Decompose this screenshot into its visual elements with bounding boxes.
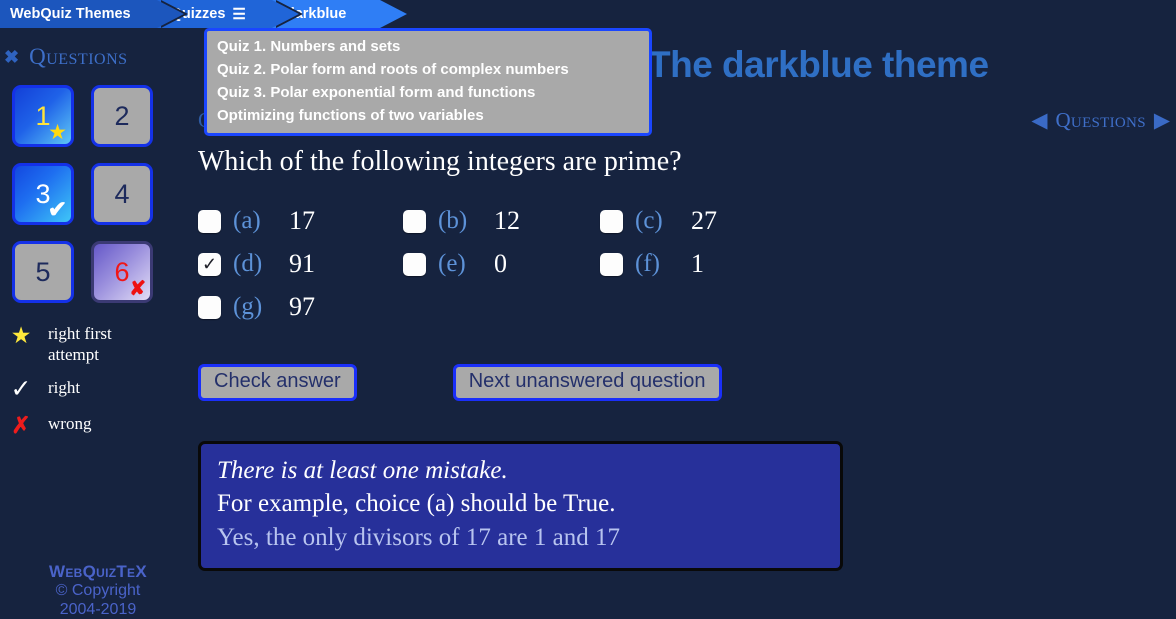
star-icon: ★: [48, 122, 67, 143]
checkbox-e[interactable]: [403, 253, 426, 276]
choice-value: 27: [691, 206, 717, 236]
breadcrumb-arrow-icon: [272, 0, 299, 28]
question-button-2[interactable]: 2: [91, 85, 153, 147]
previous-question-icon[interactable]: ◀: [1031, 110, 1047, 131]
cross-icon: ✗: [8, 413, 34, 437]
choice-value: 17: [289, 206, 315, 236]
checkbox-d[interactable]: ✓: [198, 253, 221, 276]
legend-label: right: [48, 377, 80, 398]
feedback-line-2: For example, choice (a) should be True.: [217, 487, 824, 521]
choice-tag: (d): [233, 250, 277, 278]
question-button-4[interactable]: 4: [91, 163, 153, 225]
questions-nav: ◀ Questions ▶: [1031, 108, 1170, 133]
check-icon: ✔: [48, 198, 67, 221]
checkbox-a[interactable]: [198, 210, 221, 233]
main-content: Question 6 Which of the following intege…: [198, 108, 1158, 571]
breadcrumb-item-webquiz-themes[interactable]: WebQuiz Themes: [0, 0, 157, 28]
footer-years: 2004-2019: [0, 600, 196, 619]
breadcrumb-arrow-icon: [380, 0, 407, 28]
next-question-icon[interactable]: ▶: [1154, 110, 1170, 131]
choice-g[interactable]: (g) 97: [198, 292, 403, 322]
footer-copyright: © Copyright: [0, 581, 196, 600]
check-icon: ✓: [8, 377, 34, 401]
close-x-icon[interactable]: ✖: [4, 48, 19, 66]
breadcrumb: WebQuiz Themes Quizzes ☰ darkblue: [0, 0, 380, 28]
legend-item-right-first-attempt: ★ right first attempt: [8, 323, 196, 365]
checkbox-g[interactable]: [198, 296, 221, 319]
question-button-number: 5: [35, 257, 50, 288]
question-button-1[interactable]: 1 ★: [12, 85, 74, 147]
question-button-number: 2: [114, 101, 129, 132]
feedback-box: There is at least one mistake. For examp…: [198, 441, 843, 571]
feedback-line-3: Yes, the only divisors of 17 are 1 and 1…: [217, 521, 824, 555]
choice-tag: (a): [233, 207, 277, 235]
legend-label: right first attempt: [48, 323, 138, 365]
checkbox-c[interactable]: [600, 210, 623, 233]
legend-item-right: ✓ right: [8, 377, 196, 401]
choice-tag: (g): [233, 293, 277, 321]
question-text: Which of the following integers are prim…: [198, 146, 1158, 178]
question-button-6[interactable]: 6 ✘: [91, 241, 153, 303]
menu-item-optimizing-functions[interactable]: Optimizing functions of two variables: [207, 104, 649, 127]
choice-tag: (e): [438, 250, 482, 278]
question-button-grid: 1 ★ 2 3 ✔ 4 5 6 ✘: [12, 85, 196, 303]
legend-item-wrong: ✗ wrong: [8, 413, 196, 437]
choice-tag: (c): [635, 207, 679, 235]
sidebar: ✖ Questions 1 ★ 2 3 ✔ 4 5 6 ✘: [0, 40, 196, 449]
checkbox-f[interactable]: [600, 253, 623, 276]
choice-tag: (b): [438, 207, 482, 235]
feedback-line-1: There is at least one mistake.: [217, 455, 824, 487]
next-unanswered-question-button[interactable]: Next unanswered question: [453, 364, 722, 401]
choice-value: 1: [691, 249, 704, 279]
choice-b[interactable]: (b) 12: [403, 206, 600, 236]
sidebar-title: Questions: [29, 44, 127, 70]
sidebar-header: ✖ Questions: [0, 40, 196, 74]
choice-e[interactable]: (e) 0: [403, 249, 600, 279]
hamburger-icon[interactable]: ☰: [232, 7, 245, 22]
choice-d[interactable]: ✓ (d) 91: [198, 249, 403, 279]
legend-label: wrong: [48, 413, 91, 434]
checkbox-b[interactable]: [403, 210, 426, 233]
choice-tag: (f): [635, 250, 679, 278]
choice-a[interactable]: (a) 17: [198, 206, 403, 236]
choice-c[interactable]: (c) 27: [600, 206, 800, 236]
choice-value: 91: [289, 249, 315, 279]
breadcrumb-arrow-icon: [157, 0, 184, 28]
quizzes-dropdown-menu[interactable]: Quiz 1. Numbers and sets Quiz 2. Polar f…: [204, 28, 652, 136]
choice-grid: (a) 17 (b) 12 (c) 27 ✓ (d) 91 (e) 0: [198, 206, 1158, 322]
check-answer-button[interactable]: Check answer: [198, 364, 357, 401]
question-button-5[interactable]: 5: [12, 241, 74, 303]
star-icon: ★: [8, 323, 34, 347]
choice-f[interactable]: (f) 1: [600, 249, 800, 279]
question-button-number: 6: [114, 257, 129, 288]
menu-item-quiz-1[interactable]: Quiz 1. Numbers and sets: [207, 35, 649, 58]
breadcrumb-label: WebQuiz Themes: [10, 6, 131, 22]
page-title: The darkblue theme: [648, 44, 989, 86]
action-buttons: Check answer Next unanswered question: [198, 364, 1158, 401]
footer: WebQuizTeX © Copyright 2004-2019: [0, 562, 196, 619]
legend: ★ right first attempt ✓ right ✗ wrong: [8, 323, 196, 437]
questions-nav-label: Questions: [1055, 108, 1145, 133]
menu-item-quiz-2[interactable]: Quiz 2. Polar form and roots of complex …: [207, 58, 649, 81]
question-button-3[interactable]: 3 ✔: [12, 163, 74, 225]
choice-value: 97: [289, 292, 315, 322]
choice-value: 0: [494, 249, 507, 279]
cross-icon: ✘: [129, 279, 146, 299]
choice-value: 12: [494, 206, 520, 236]
footer-brand: WebQuizTeX: [0, 562, 196, 581]
app-root: The darkblue theme WebQuiz Themes Quizze…: [0, 0, 1176, 619]
menu-item-quiz-3[interactable]: Quiz 3. Polar exponential form and funct…: [207, 81, 649, 104]
question-button-number: 4: [114, 179, 129, 210]
